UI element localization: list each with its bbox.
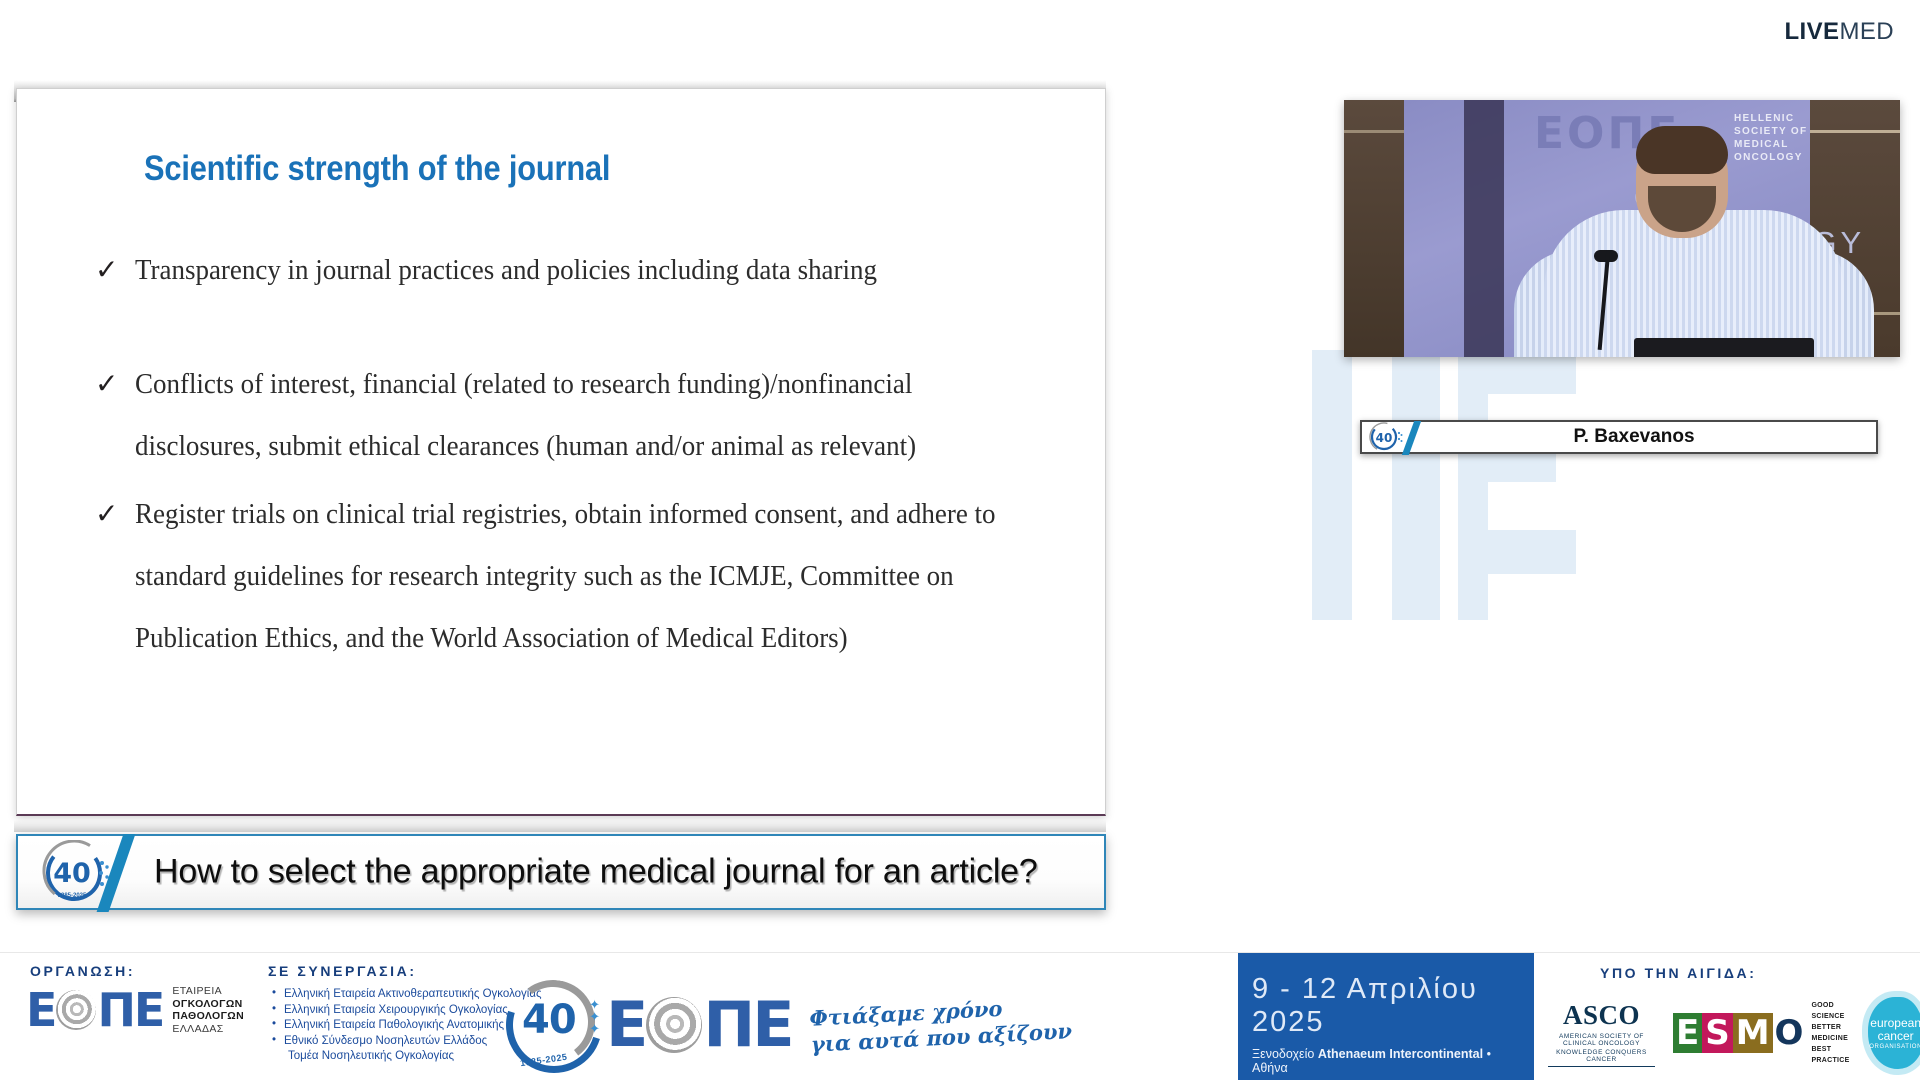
wall-panel-left	[1344, 100, 1404, 357]
eco-line-1: european	[1870, 1017, 1920, 1030]
presentation-slide[interactable]: Scientific strength of the journal ✓ Tra…	[16, 88, 1106, 816]
eope-wordmark: ΕΤΑΙΡΕΙΑ ΟΓΚΟΛΟΓΩΝ ΠΑΘΟΛΟΓΩΝ ΕΛΛΑΔΑΣ	[172, 985, 244, 1035]
backdrop-fragment-3: t:	[1874, 354, 1891, 357]
collab-item-1: Ελληνική Εταιρεία Ακτινοθεραπευτικής Ογκ…	[284, 988, 542, 1000]
esmo-tag-2: BETTER MEDICINE	[1811, 1022, 1849, 1044]
aegis-label: ΥΠΟ ΤΗΝ ΑΙΓΙΔΑ:	[1600, 965, 1757, 981]
watermark-shape-1	[1312, 350, 1352, 620]
esmo-tag-3: BEST PRACTICE	[1811, 1044, 1849, 1066]
titlebar-shadow	[14, 820, 1106, 832]
anniversary-eope-lockup: 40 1985-2025 ✦✦✦ Ε ΠΕ Φτιάξαμε χρόνο για…	[506, 977, 1071, 1073]
venue-prefix: Ξενοδοχείο	[1252, 1047, 1318, 1061]
watermark-shape-2	[1392, 350, 1440, 620]
collab-item-2: Ελληνική Εταιρεία Χειρουργικής Ογκολογία…	[284, 1004, 508, 1016]
venue-name: Athenaeum Intercontinental	[1318, 1047, 1483, 1061]
eope-letter-e: Ε	[26, 987, 55, 1033]
anniversary-40-badge: 40 1985-2025 ✦✦✦	[506, 977, 602, 1073]
asco-subtitle-2: KNOWLEDGE CONQUERS CANCER	[1548, 1049, 1655, 1063]
watermark-shape-5	[1458, 530, 1576, 574]
eope-word-3: ΠΑΘΟΛΟΓΩΝ	[172, 1010, 244, 1022]
list-item: Εθνικό Σύνδεσμο Νοσηλευτών Ελλάδος Τομέα…	[272, 1034, 542, 1065]
svg-text:1985-2025: 1985-2025	[58, 893, 87, 899]
bullet-text: Transparency in journal practices and po…	[135, 239, 1028, 301]
wall-streak-right-top	[1810, 130, 1900, 133]
list-item: ✓ Conflicts of interest, financial (rela…	[95, 353, 1095, 477]
asco-logo: ASCO AMERICAN SOCIETY OF CLINICAL ONCOLO…	[1548, 1000, 1655, 1067]
esmo-tag-1: GOOD SCIENCE	[1811, 1000, 1849, 1022]
speaker-name-bar: 40 P. Baxevanos	[1360, 420, 1878, 454]
eope-letters-pe: ΠΕ	[97, 987, 163, 1033]
european-cancer-organisation-logo: european cancer ORGANISATION	[1868, 997, 1920, 1069]
svg-text:40: 40	[53, 858, 91, 889]
list-item: ✓ Register trials on clinical trial regi…	[95, 483, 1095, 669]
event-dates: 9 - 12 Απριλίου 2025	[1252, 973, 1522, 1039]
speaker-name: P. Baxevanos	[1362, 426, 1876, 448]
slide-bullet-list: ✓ Transparency in journal practices and …	[95, 239, 1095, 675]
esmo-letters: E S M O	[1673, 1013, 1805, 1053]
watermark-shape-6	[1458, 350, 1488, 620]
aegis-logo-row: ASCO AMERICAN SOCIETY OF CLINICAL ONCOLO…	[1548, 997, 1920, 1069]
eco-line-3: ORGANISATION	[1869, 1044, 1920, 1050]
eope-word-1: ΕΤΑΙΡΕΙΑ	[172, 985, 222, 997]
event-date-box: 9 - 12 Απριλίου 2025 Ξενοδοχείο Athenaeu…	[1238, 953, 1534, 1080]
esmo-letter-m: M	[1733, 1013, 1773, 1053]
check-icon: ✓	[95, 239, 135, 301]
collaboration-label: ΣΕ ΣΥΝΕΡΓΑΣΙΑ:	[268, 963, 417, 979]
livemed-logo: LIVEMED	[1785, 20, 1895, 44]
eope-logo-large: Ε ΠΕ	[606, 994, 792, 1056]
badge-sparkles-icon: ✦✦✦	[589, 999, 600, 1035]
eope-large-spiral-icon	[646, 997, 702, 1053]
slide-title: Scientific strength of the journal	[144, 149, 610, 189]
conference-footer: ΟΡΓΑΝΩΣΗ: Ε ΠΕ ΕΤΑΙΡΕΙΑ ΟΓΚΟΛΟΓΩΝ ΠΑΘΟΛΟ…	[0, 952, 1920, 1080]
check-icon: ✓	[95, 353, 135, 415]
collab-item-4: Εθνικό Σύνδεσμο Νοσηλευτών Ελλάδος	[284, 1035, 487, 1047]
asco-subtitle-1: AMERICAN SOCIETY OF CLINICAL ONCOLOGY	[1548, 1033, 1655, 1047]
wall-streak-left	[1344, 130, 1404, 133]
bullet-text: Conflicts of interest, financial (relate…	[135, 353, 1028, 477]
podium-laptop	[1634, 338, 1814, 357]
esmo-letter-e: E	[1673, 1013, 1702, 1053]
eope-word-4: ΕΛΛΑΔΑΣ	[172, 1023, 223, 1035]
eco-line-2: cancer	[1878, 1030, 1914, 1043]
backdrop-shadow	[1464, 100, 1504, 357]
list-item: Ελληνική Εταιρεία Παθολογικής Ανατομικής	[272, 1018, 542, 1034]
collab-item-4-sub: Τομέα Νοσηλευτικής Ογκολογίας	[284, 1049, 542, 1065]
conference-backdrop: ΕΟΠΕ HELLENICSOCIETY OFMEDICALONCOLOGY O…	[1404, 100, 1810, 357]
esmo-taglines: GOOD SCIENCE BETTER MEDICINE BEST PRACTI…	[1811, 1000, 1849, 1066]
collab-item-3: Ελληνική Εταιρεία Παθολογικής Ανατομικής	[284, 1019, 504, 1031]
esmo-logo: E S M O GOOD SCIENCE BETTER MEDICINE BES…	[1673, 1000, 1850, 1066]
eope-logo-small: Ε ΠΕ ΕΤΑΙΡΕΙΑ ΟΓΚΟΛΟΓΩΝ ΠΑΘΟΛΟΓΩΝ ΕΛΛΑΔΑ…	[26, 985, 244, 1035]
screen-root: LIVEMED Scientific strength of the journ…	[0, 0, 1920, 1080]
esmo-letter-s: S	[1702, 1013, 1733, 1053]
session-title-bar: 40 1985-2025 How to select the appropria…	[16, 834, 1106, 910]
eope-large-letters-pe: ΠΕ	[703, 994, 791, 1056]
organizer-label: ΟΡΓΑΝΩΣΗ:	[30, 963, 135, 979]
anniversary-tagline: Φτιάξαμε χρόνο για αυτά που αξίζουν	[808, 992, 1072, 1058]
esmo-letter-o: O	[1773, 1013, 1806, 1053]
list-item: ✓ Transparency in journal practices and …	[95, 239, 1095, 301]
eope-word-2: ΟΓΚΟΛΟΓΩΝ	[172, 998, 242, 1010]
speaker-video-feed[interactable]: ΕΟΠΕ HELLENICSOCIETY OFMEDICALONCOLOGY O…	[1344, 100, 1900, 357]
livemed-logo-bold: LIVE	[1785, 18, 1840, 45]
list-item: Ελληνική Εταιρεία Χειρουργικής Ογκολογία…	[272, 1003, 542, 1019]
check-icon: ✓	[95, 483, 135, 545]
event-venue: Ξενοδοχείο Athenaeum Intercontinental • …	[1252, 1047, 1522, 1075]
eope-spiral-icon	[56, 990, 96, 1030]
badge-number: 40	[522, 997, 576, 1043]
eope-large-letter-e: Ε	[606, 994, 645, 1056]
speaker-hair	[1636, 126, 1728, 174]
svg-text:40: 40	[1376, 431, 1393, 445]
list-item: Ελληνική Εταιρεία Ακτινοθεραπευτικής Ογκ…	[272, 987, 542, 1003]
backdrop-society-text: HELLENICSOCIETY OFMEDICALONCOLOGY	[1734, 112, 1807, 164]
livemed-logo-light: MED	[1839, 18, 1894, 45]
bullet-text: Register trials on clinical trial regist…	[135, 483, 1028, 669]
session-title: How to select the appropriate medical jo…	[154, 853, 1038, 892]
bullet-spacer	[95, 307, 1095, 353]
asco-name: ASCO	[1548, 1000, 1655, 1031]
collaboration-list: Ελληνική Εταιρεία Ακτινοθεραπευτικής Ογκ…	[272, 987, 542, 1065]
